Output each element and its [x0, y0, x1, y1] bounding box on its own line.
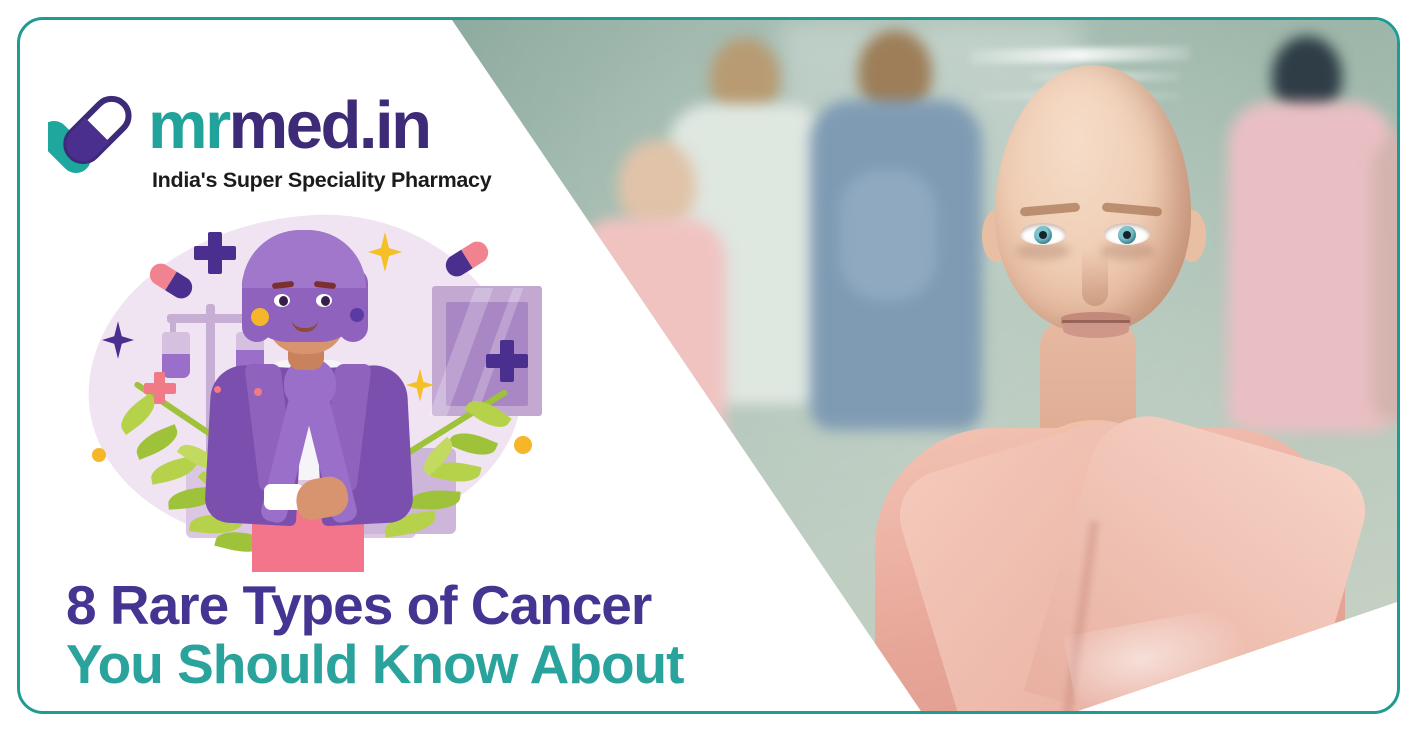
decorative-dot — [254, 388, 262, 396]
sparkle-star-icon — [406, 368, 434, 402]
decorative-dot — [214, 386, 221, 393]
patient-lower-lip — [1063, 322, 1129, 338]
logo-tagline: India's Super Speciality Pharmacy — [152, 168, 491, 193]
sparkle-star-icon — [102, 320, 134, 360]
page-title: 8 Rare Types of Cancer You Should Know A… — [66, 576, 683, 695]
patient-pupil — [1123, 231, 1131, 239]
patient-mouth-line — [1062, 320, 1130, 323]
pill-check-icon — [48, 90, 144, 176]
logo-wordmark: mrmed.in — [148, 92, 430, 159]
patient-pupil — [1039, 231, 1047, 239]
iv-fluid — [162, 354, 190, 378]
headline-line-2: You Should Know About — [66, 635, 683, 694]
medical-cross-icon — [486, 354, 528, 368]
patient-nose — [1082, 248, 1108, 306]
illustration-pupil — [321, 296, 330, 306]
sparkle-star-icon — [368, 232, 402, 272]
decorative-dot — [251, 308, 269, 326]
decorative-dot — [514, 436, 532, 454]
decorative-dot — [350, 308, 364, 322]
iv-bag — [162, 332, 190, 378]
banner-card: mrmed.in India's Super Speciality Pharma… — [17, 17, 1400, 714]
cancer-patient-illustration — [66, 208, 536, 568]
logo-wordmark-med: med.in — [229, 88, 430, 163]
medical-cross-icon — [194, 246, 236, 260]
logo-wordmark-mr: mr — [148, 88, 229, 163]
headline-line-1: 8 Rare Types of Cancer — [66, 576, 683, 635]
illustration-pupil — [279, 296, 288, 306]
medical-cross-icon — [144, 383, 176, 394]
decorative-dot — [92, 448, 106, 462]
